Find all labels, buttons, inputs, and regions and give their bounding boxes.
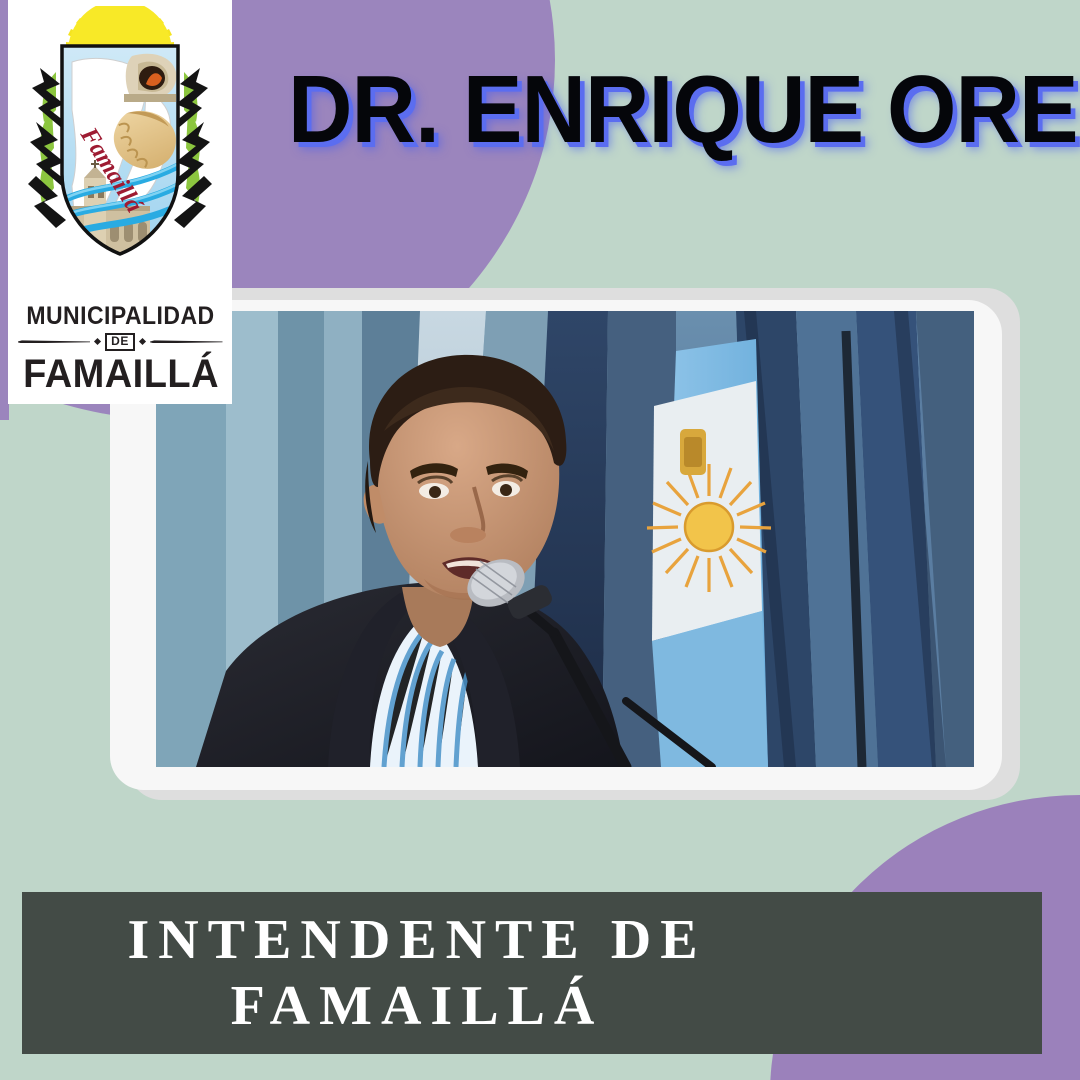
divider-dot-right — [139, 338, 146, 345]
divider-rule-right — [150, 340, 223, 343]
municipal-logo-card[interactable]: Famaillá MUNICIPALIDAD DE FAMAILLÁ — [8, 0, 232, 404]
poster-canvas: DR. ENRIQUE ORELLANA — [0, 0, 1080, 1080]
portrait-photo — [156, 311, 974, 767]
logo-line-famailla: FAMAILLÁ — [23, 354, 218, 394]
logo-wordmark: MUNICIPALIDAD DE FAMAILLÁ — [18, 304, 223, 394]
logo-line-de: DE — [105, 333, 135, 351]
logo-de-divider: DE — [18, 333, 223, 351]
title-banner — [22, 892, 1042, 1054]
logo-line-municipalidad: MUNICIPALIDAD — [26, 304, 215, 329]
divider-dot-left — [94, 338, 101, 345]
page-title: DR. ENRIQUE ORELLANA — [288, 62, 1004, 158]
famailla-coat-of-arms: Famaillá — [20, 6, 220, 306]
divider-rule-left — [18, 340, 91, 343]
